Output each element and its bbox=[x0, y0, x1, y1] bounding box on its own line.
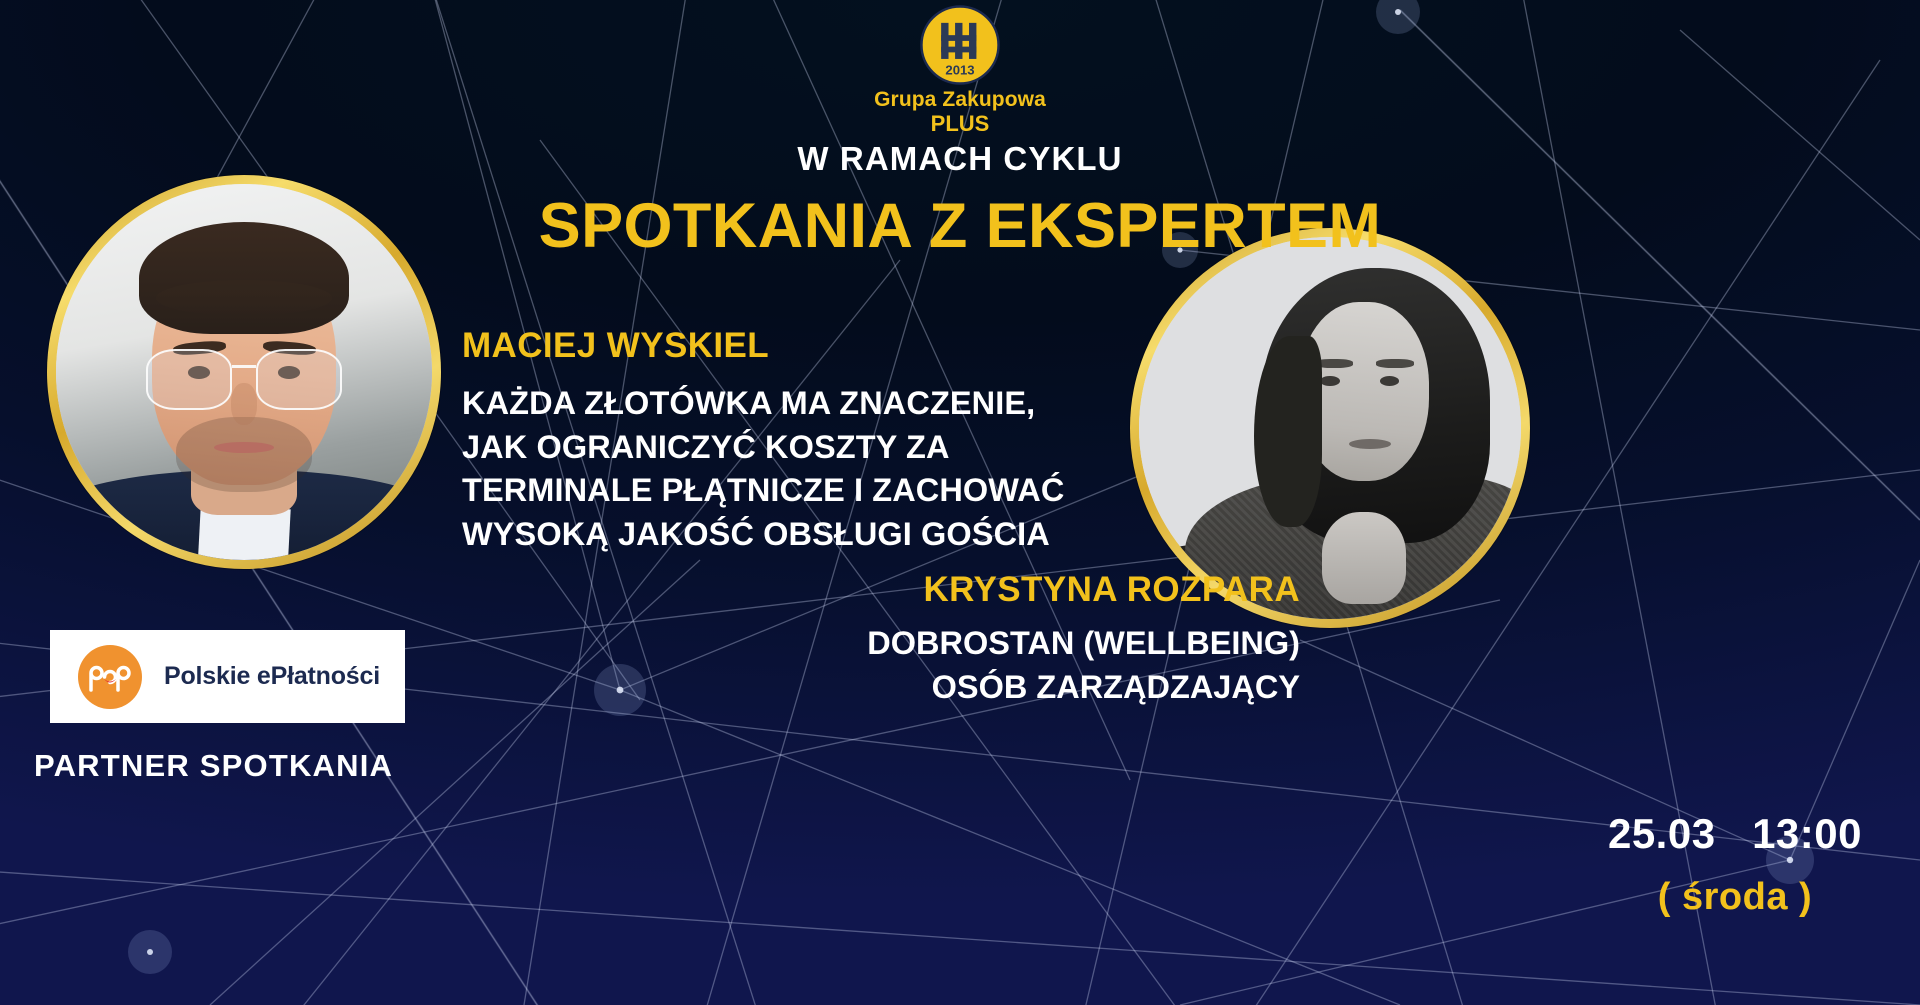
topic-line: OSÓB ZARZĄDZAJĄCY bbox=[540, 666, 1300, 710]
svg-text:2013: 2013 bbox=[945, 63, 974, 78]
speaker-topic-1: KAŻDA ZŁOTÓWKA MA ZNACZENIE, JAK OGRANIC… bbox=[462, 382, 1222, 556]
event-datetime: 25.03 13:00 bbox=[1608, 810, 1862, 858]
partner-name: Polskie ePłatności bbox=[164, 662, 380, 691]
speaker-block-1: MACIEJ WYSKIEL KAŻDA ZŁOTÓWKA MA ZNACZEN… bbox=[462, 326, 1222, 556]
topic-line: DOBROSTAN (WELLBEING) bbox=[540, 622, 1300, 666]
speaker-block-2: KRYSTYNA ROZPARA DOBROSTAN (WELLBEING) O… bbox=[540, 570, 1300, 709]
speaker-name-1: MACIEJ WYSKIEL bbox=[462, 326, 1222, 366]
event-poster: 2013 Grupa Zakupowa PLUS W RAMACH CYKLU … bbox=[0, 0, 1920, 1005]
topic-line: TERMINALE PŁĄTNICZE I ZACHOWAĆ bbox=[462, 469, 1222, 513]
topic-line: KAŻDA ZŁOTÓWKA MA ZNACZENIE, bbox=[462, 382, 1222, 426]
partner-caption: PARTNER SPOTKANIA bbox=[34, 748, 393, 784]
logo-subwordmark: PLUS bbox=[931, 112, 990, 136]
cycle-label: W RAMACH CYKLU bbox=[0, 140, 1920, 178]
event-datetime-block: 25.03 13:00 ( środa ) bbox=[1608, 810, 1862, 919]
page-title: SPOTKANIA Z EKSPERTEM bbox=[0, 190, 1920, 262]
pep-monogram-icon bbox=[78, 645, 142, 709]
grupa-zakupowa-logo-icon: 2013 bbox=[919, 4, 1001, 86]
partner-logo: Polskie ePłatności bbox=[50, 630, 405, 723]
speaker-name-2: KRYSTYNA ROZPARA bbox=[540, 570, 1300, 610]
topic-line: JAK OGRANICZYĆ KOSZTY ZA bbox=[462, 426, 1222, 470]
event-weekday: ( środa ) bbox=[1608, 876, 1862, 919]
brand-logo-block: 2013 Grupa Zakupowa PLUS bbox=[0, 4, 1920, 136]
speaker-topic-2: DOBROSTAN (WELLBEING) OSÓB ZARZĄDZAJĄCY bbox=[540, 622, 1300, 709]
topic-line: WYSOKĄ JAKOŚĆ OBSŁUGI GOŚCIA bbox=[462, 513, 1222, 557]
logo-wordmark: Grupa Zakupowa bbox=[874, 88, 1046, 112]
